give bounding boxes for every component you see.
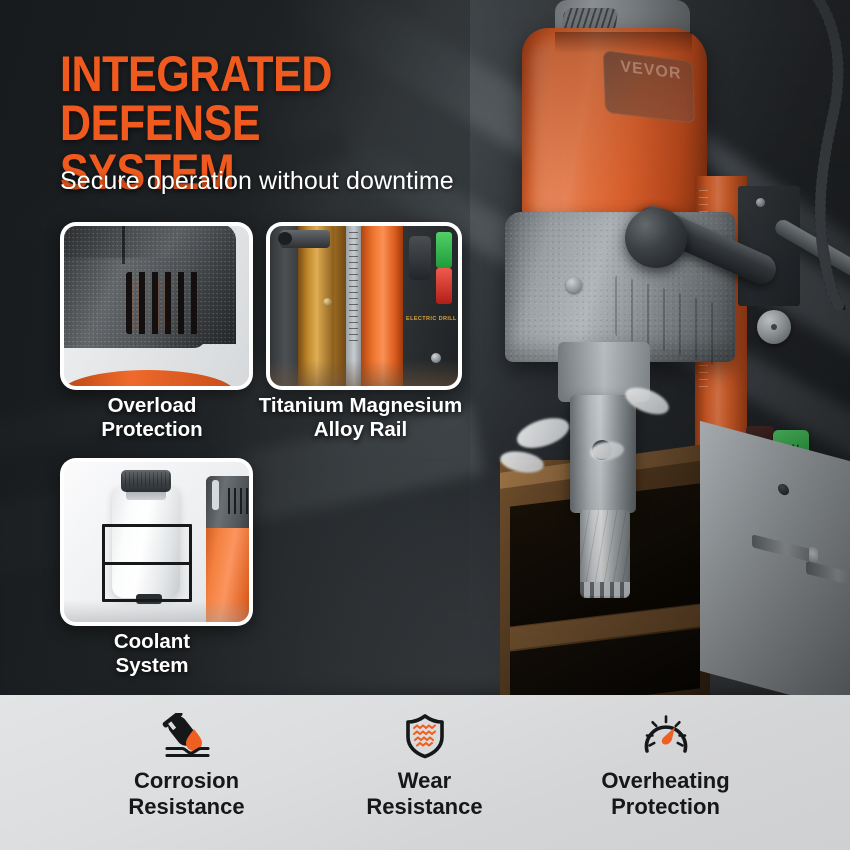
label-line-2: System [52,654,252,678]
shield-icon [403,713,447,759]
vent-slots [126,272,202,334]
green-button [436,232,452,268]
feature-card-coolant-system[interactable] [60,458,253,626]
gauge-icon [641,713,691,759]
test-tube-droplet-icon [161,713,213,759]
marketing-banner: VEVOR ON [0,0,850,850]
bottle-cage-wire [102,524,105,602]
label-line-2: Alloy Rail [258,418,463,442]
headline-line-1: INTEGRATED [60,46,332,102]
feature-card-overload-protection[interactable] [60,222,253,390]
feature-label: Wear Resistance [366,768,482,819]
feature-thumbnail: ELECTRIC DRILL [270,226,458,386]
bottle-cage-wire [189,524,192,602]
feature-label: Overheating Protection [601,768,729,819]
rail-scale [349,232,358,342]
feature-card-label-titanium-magnesium-alloy-rail: Titanium Magnesium Alloy Rail [258,394,463,442]
bottle-cage-wire [102,562,192,565]
label-line-2: Protection [601,794,729,820]
feature-overheating-protection[interactable]: Overheating Protection [524,695,807,850]
panel-switch [409,236,431,280]
feature-card-label-overload-protection: Overload Protection [52,394,252,442]
label-line-1: Titanium Magnesium [258,394,463,418]
label-line-1: Coolant [52,630,252,654]
label-line-1: Overheating [601,768,729,794]
feature-card-titanium-magnesium-alloy-rail[interactable]: ELECTRIC DRILL [266,222,462,390]
feature-thumbnail [64,462,249,622]
bottle-cage-wire [102,524,192,527]
label-line-2: Resistance [366,794,482,820]
rail-screw [323,298,332,307]
product-photo: VEVOR ON [0,0,850,695]
feature-thumbnail [64,226,249,386]
coolant-bottle [112,486,180,598]
red-button [436,268,452,304]
subtitle: Secure operation without downtime [60,167,454,196]
label-line-1: Overload [52,394,252,418]
label-line-2: Resistance [128,794,244,820]
label-line-1: Corrosion [128,768,244,794]
panel-text: ELECTRIC DRILL [406,316,458,322]
label-line-1: Wear [366,768,482,794]
feature-card-label-coolant-system: Coolant System [52,630,252,678]
feature-strip: Corrosion Resistance Wear Resistan [0,695,850,850]
feature-label: Corrosion Resistance [128,768,244,819]
label-line-2: Protection [52,418,252,442]
